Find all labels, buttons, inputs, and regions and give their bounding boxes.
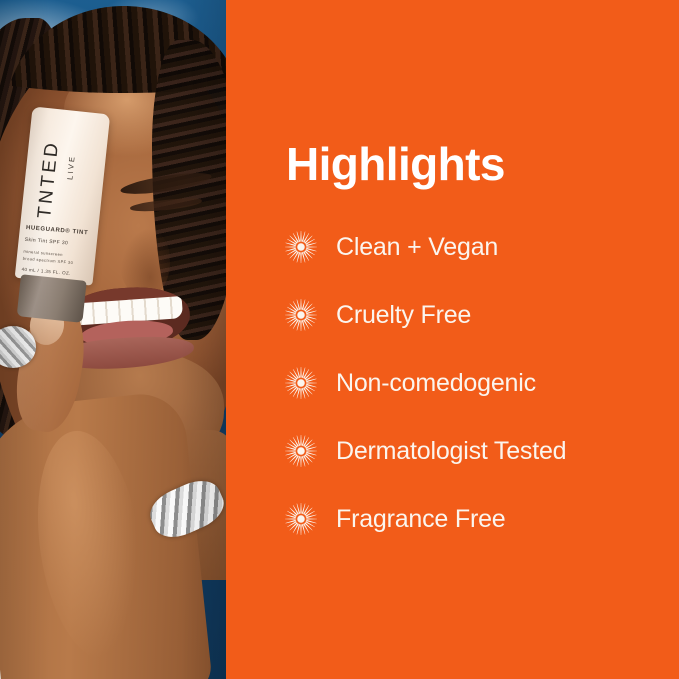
- list-item-label: Fragrance Free: [336, 505, 506, 534]
- sunburst-icon: [284, 502, 318, 536]
- product-highlight-card: TNTED LIVE HUEGUARD® TINT Skin Tint SPF …: [0, 0, 679, 679]
- list-item-label: Dermatologist Tested: [336, 437, 566, 466]
- product-lifestyle-photo: TNTED LIVE HUEGUARD® TINT Skin Tint SPF …: [0, 0, 226, 679]
- list-item: Clean + Vegan: [284, 222, 664, 272]
- sunburst-icon: [284, 366, 318, 400]
- list-item-label: Clean + Vegan: [336, 233, 498, 262]
- highlights-panel: Highlights Clean + VeganCruelty FreeNon-…: [226, 0, 679, 679]
- sunburst-icon: [284, 434, 318, 468]
- list-item: Non-comedogenic: [284, 358, 664, 408]
- list-item: Cruelty Free: [284, 290, 664, 340]
- list-item-label: Non-comedogenic: [336, 369, 536, 398]
- page-title: Highlights: [286, 140, 505, 188]
- tube-claim-2: broad spectrum SPF 30: [23, 256, 74, 265]
- tube-product-type: Skin Tint SPF 30: [24, 237, 68, 247]
- sunburst-icon: [284, 298, 318, 332]
- list-item: Dermatologist Tested: [284, 426, 664, 476]
- highlights-list: Clean + VeganCruelty FreeNon-comedogenic…: [284, 222, 664, 544]
- tube-product-name: HUEGUARD® TINT: [26, 225, 89, 236]
- sunburst-icon: [284, 230, 318, 264]
- tube-brand-prefix: LIVE: [65, 154, 77, 180]
- list-item-label: Cruelty Free: [336, 301, 471, 330]
- list-item: Fragrance Free: [284, 494, 664, 544]
- tube-cap: [17, 274, 87, 323]
